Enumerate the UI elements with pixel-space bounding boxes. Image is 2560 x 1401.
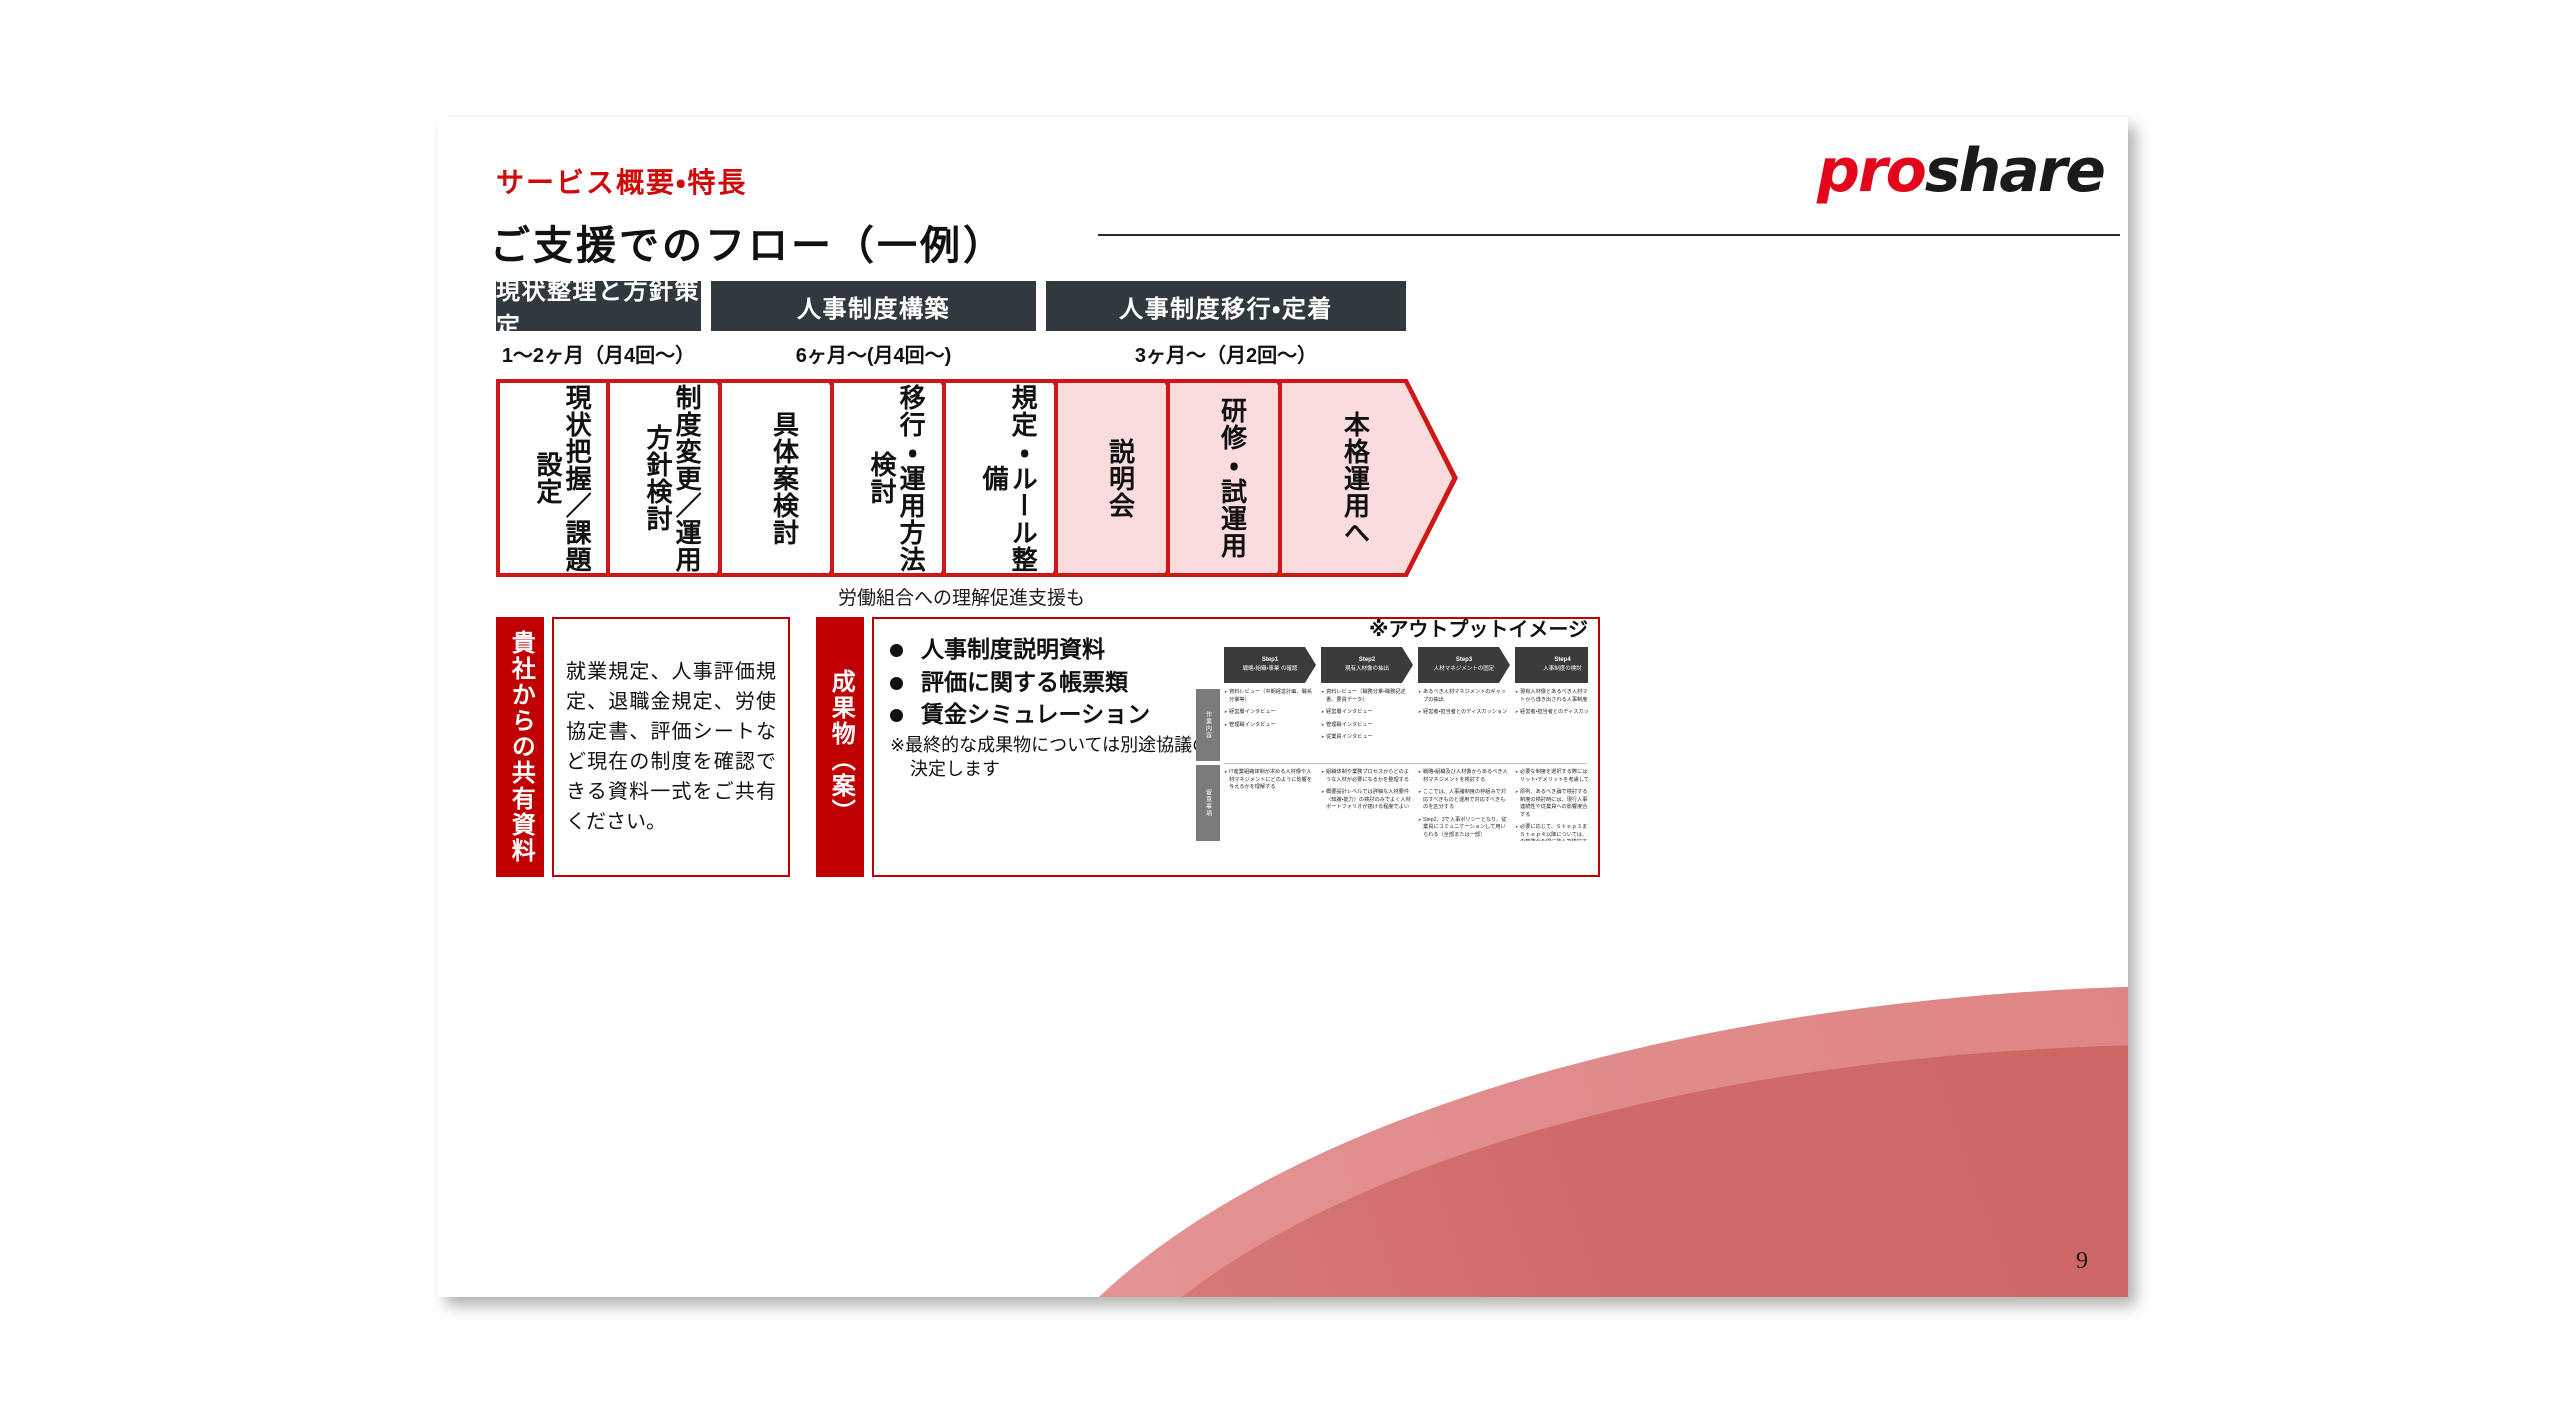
thumbnail-text: 経営者・担当者とのディスカッション [1418, 709, 1510, 717]
client-materials-body: 就業規定、人事評価規定、退職金規定、労使協定書、評価シートなど現在の制度を確認で… [552, 617, 790, 877]
thumbnail-step-3-title: 人事制度の検討 [1543, 665, 1582, 673]
flow-step-label-6: 研修・試運用 [1217, 397, 1246, 559]
thumbnail-step-0-title: 戦略・組織・事業 の確認 [1243, 665, 1298, 673]
union-support-note: 労働組合への理解促進支援も [838, 583, 1085, 610]
thumbnail-text: 経営層インタビュー [1224, 709, 1316, 717]
phase-bar-1: 人事制度構築 [711, 281, 1036, 331]
thumbnail-step-row: Step1 戦略・組織・事業 の確認 Step2 現有人材像の抽出 Step3 … [1224, 647, 1588, 687]
deliverable-label-2: 賃金シミュレーション [921, 698, 1150, 731]
thumbnail-text: 原則、あるべき論で検討するが、人事制度の検討時には、現行人事制度との連続性や従業… [1515, 789, 1588, 819]
thumbnail-text: ここでは、人事諸制度の枠組みで対応すべきものと運用で対応すべきものを区分する [1418, 789, 1510, 812]
thumbnail-cell-2-1: 戦略・組織及び人材像からあるべき人材マネジメントを検討する ここでは、人事諸制度… [1418, 769, 1510, 841]
title-divider [1098, 234, 2120, 236]
thumbnail-side-label-1: 留意事項 [1196, 765, 1220, 841]
thumbnail-text: 現有人材像とあるべき人材マネジメントから導き出される人事制度の検討 [1515, 689, 1588, 704]
thumbnail-step-2-title: 人材マネジメントの固定 [1434, 665, 1495, 673]
section-kicker: サービス概要・特長 [496, 161, 748, 201]
thumbnail-text: 経営層インタビュー [1321, 709, 1413, 717]
thumbnail-text: 必要に応じて、Ｓｔｅｐ３までとし、Ｓｔｅｐ４以降については、人事制度の勉強会を間… [1515, 824, 1588, 841]
flow-step-label-5: 説明会 [1105, 438, 1134, 519]
deliverables-box: 成果物（案） ※アウトプットイメージ 人事制度説明資料 評価に関する帳票類 賃金… [816, 617, 1606, 877]
thumbnail-side-label-0: 作業内容 [1196, 689, 1220, 761]
bullet-dot-icon [890, 709, 903, 722]
phase-bar-2: 人事制度移行・定着 [1046, 281, 1406, 331]
deliverables-tab-label: 成果物（案） [827, 669, 853, 825]
thumbnail-step-0: Step1 戦略・組織・事業 の確認 [1224, 647, 1316, 683]
thumbnail-column-1: 資料レビュー（職務分掌・職務記述書、要員データ） 経営層インタビュー 管理職イン… [1321, 689, 1413, 835]
thumbnail-text: 管理職インタビュー [1321, 722, 1413, 730]
phase-duration-2: 3ヶ月〜（月2回〜） [1046, 339, 1406, 368]
thumbnail-text: 概要設計レベルでは詳細な人材要件（知識・能力）の検討のみでよく人材ポートフォリオ… [1321, 789, 1413, 812]
phase-duration-row: 1〜2ヶ月（月4回〜） 6ヶ月〜(月4回〜) 3ヶ月〜（月2回〜） [496, 339, 1606, 371]
thumbnail-step-1: Step2 現有人材像の抽出 [1321, 647, 1413, 683]
thumbnail-text: 管理職インタビュー [1224, 722, 1316, 730]
bullet-dot-icon [890, 644, 903, 657]
flow-step-label-2: 具体案検討 [769, 411, 798, 546]
client-materials-box: 貴社からの共有資料 就業規定、人事評価規定、退職金規定、労使協定書、評価シートな… [496, 617, 796, 877]
thumbnail-step-2-num: Step3 [1456, 656, 1472, 665]
thumbnail-column-0: 資料レビュー（中期経営計画、職系分掌等） 経営層インタビュー 管理職インタビュー… [1224, 689, 1316, 835]
footnote-line-1: ※最終的な成果物については別途協議の上、 [890, 735, 1246, 755]
thumbnail-step-3-num: Step4 [1554, 656, 1570, 665]
thumbnail-step-0-num: Step1 [1262, 656, 1278, 665]
output-image-thumbnail: Step1 戦略・組織・事業 の確認 Step2 現有人材像の抽出 Step3 … [1196, 645, 1588, 841]
phase-duration-1: 6ヶ月〜(月4回〜) [711, 339, 1036, 368]
process-flow-row: 現状把握／課題設定 制度変更／運用方針検討 具体案検討 移行・運用方法検討 規定… [496, 379, 1611, 577]
thumbnail-step-2: Step3 人材マネジメントの固定 [1418, 647, 1510, 683]
thumbnail-cell-1-0: 資料レビュー（職務分掌・職務記述書、要員データ） 経営層インタビュー 管理職イン… [1321, 689, 1413, 747]
thumbnail-cell-0-0: 資料レビュー（中期経営計画、職系分掌等） 経営層インタビュー 管理職インタビュー [1224, 689, 1316, 734]
deliverable-label-0: 人事制度説明資料 [921, 633, 1105, 666]
thumbnail-text: 従業員インタビュー [1321, 734, 1413, 742]
flow-step-label-7: 本格運用へ [1340, 411, 1369, 546]
thumbnail-cell-3-0: 現有人材像とあるべき人材マネジメントから導き出される人事制度の検討 経営者・担当… [1515, 689, 1588, 722]
deliverables-body: ※アウトプットイメージ 人事制度説明資料 評価に関する帳票類 賃金シミュレーショ… [872, 617, 1600, 877]
thumbnail-text: IT産業組織体制が求める人材像や人材マネジメントにどのように影響を与えるかを理解… [1224, 769, 1316, 792]
thumbnail-text: 経営者・担当者とのディスカッション [1515, 709, 1588, 717]
thumbnail-column-2: あるべき人材マネジメントのギャップの抽出 経営者・担当者とのディスカッション 戦… [1418, 689, 1510, 835]
phase-bar-row: 現状整理と方針策定 人事制度構築 人事制度移行・定着 [496, 281, 1606, 331]
client-materials-tab: 貴社からの共有資料 [496, 617, 544, 877]
thumbnail-text: Step2、3で人事ポリシーとなり、従業員にコミュニケーションして用いられる（全… [1418, 817, 1510, 840]
phase-bar-0: 現状整理と方針策定 [496, 281, 701, 331]
proshare-logo: proshare [1708, 137, 2108, 199]
thumbnail-content-grid: 資料レビュー（中期経営計画、職系分掌等） 経営層インタビュー 管理職インタビュー… [1224, 689, 1586, 835]
thumbnail-text: 組織体制や業務プロセスからどのような人材が必要になるかを整理する [1321, 769, 1413, 784]
flow-step-label-3: 移行・運用方法検討 [867, 383, 925, 573]
thumbnail-text: 資料レビュー（職務分掌・職務記述書、要員データ） [1321, 689, 1413, 704]
client-materials-text: 就業規定、人事評価規定、退職金規定、労使協定書、評価シートなど現在の制度を確認で… [566, 657, 776, 837]
thumbnail-text: 必要な制度を選択する際には制度のメリット・デメリットを考慮して決定 [1515, 769, 1588, 784]
page-title: ご支援でのフロー（一例） [490, 213, 1006, 271]
flow-step-label-1: 制度変更／運用方針検討 [643, 383, 701, 573]
logo-share-text: share [1925, 136, 2104, 206]
thumbnail-cell-3-1: 必要な制度を選択する際には制度のメリット・デメリットを考慮して決定 原則、あるべ… [1515, 769, 1588, 841]
thumbnail-cell-0-1: IT産業組織体制が求める人材像や人材マネジメントにどのように影響を与えるかを理解… [1224, 769, 1316, 797]
thumbnail-cell-2-0: あるべき人材マネジメントのギャップの抽出 経営者・担当者とのディスカッション [1418, 689, 1510, 722]
output-image-label: ※アウトプットイメージ [1369, 613, 1588, 642]
client-materials-tab-label: 貴社からの共有資料 [507, 630, 533, 864]
phase-duration-0: 1〜2ヶ月（月4回〜） [496, 339, 701, 368]
deliverables-tab: 成果物（案） [816, 617, 864, 877]
thumbnail-step-1-title: 現有人材像の抽出 [1345, 665, 1389, 673]
thumbnail-text: あるべき人材マネジメントのギャップの抽出 [1418, 689, 1510, 704]
thumbnail-cell-1-1: 組織体制や業務プロセスからどのような人材が必要になるかを整理する 概要設計レベル… [1321, 769, 1413, 817]
logo-pro-text: pro [1817, 136, 1925, 206]
thumbnail-side-column: 作業内容 留意事項 [1196, 689, 1220, 833]
page-number: 9 [2076, 1248, 2088, 1275]
thumbnail-column-3: 現有人材像とあるべき人材マネジメントから導き出される人事制度の検討 経営者・担当… [1515, 689, 1588, 835]
thumbnail-step-3: Step4 人事制度の検討 [1515, 647, 1588, 683]
thumbnail-text: 戦略・組織及び人材像からあるべき人材マネジメントを検討する [1418, 769, 1510, 784]
thumbnail-text: 資料レビュー（中期経営計画、職系分掌等） [1224, 689, 1316, 704]
slide-canvas: proshare サービス概要・特長 ご支援でのフロー（一例） 現状整理と方針策… [438, 117, 2128, 1297]
deliverable-label-1: 評価に関する帳票類 [921, 666, 1128, 699]
flow-step-label-0: 現状把握／課題設定 [533, 383, 591, 573]
flow-step-label-4: 規定・ルール整備 [979, 383, 1037, 573]
thumbnail-step-1-num: Step2 [1359, 656, 1375, 665]
flow-step-7: 本格運用へ [1278, 379, 1458, 577]
bullet-dot-icon [890, 677, 903, 690]
